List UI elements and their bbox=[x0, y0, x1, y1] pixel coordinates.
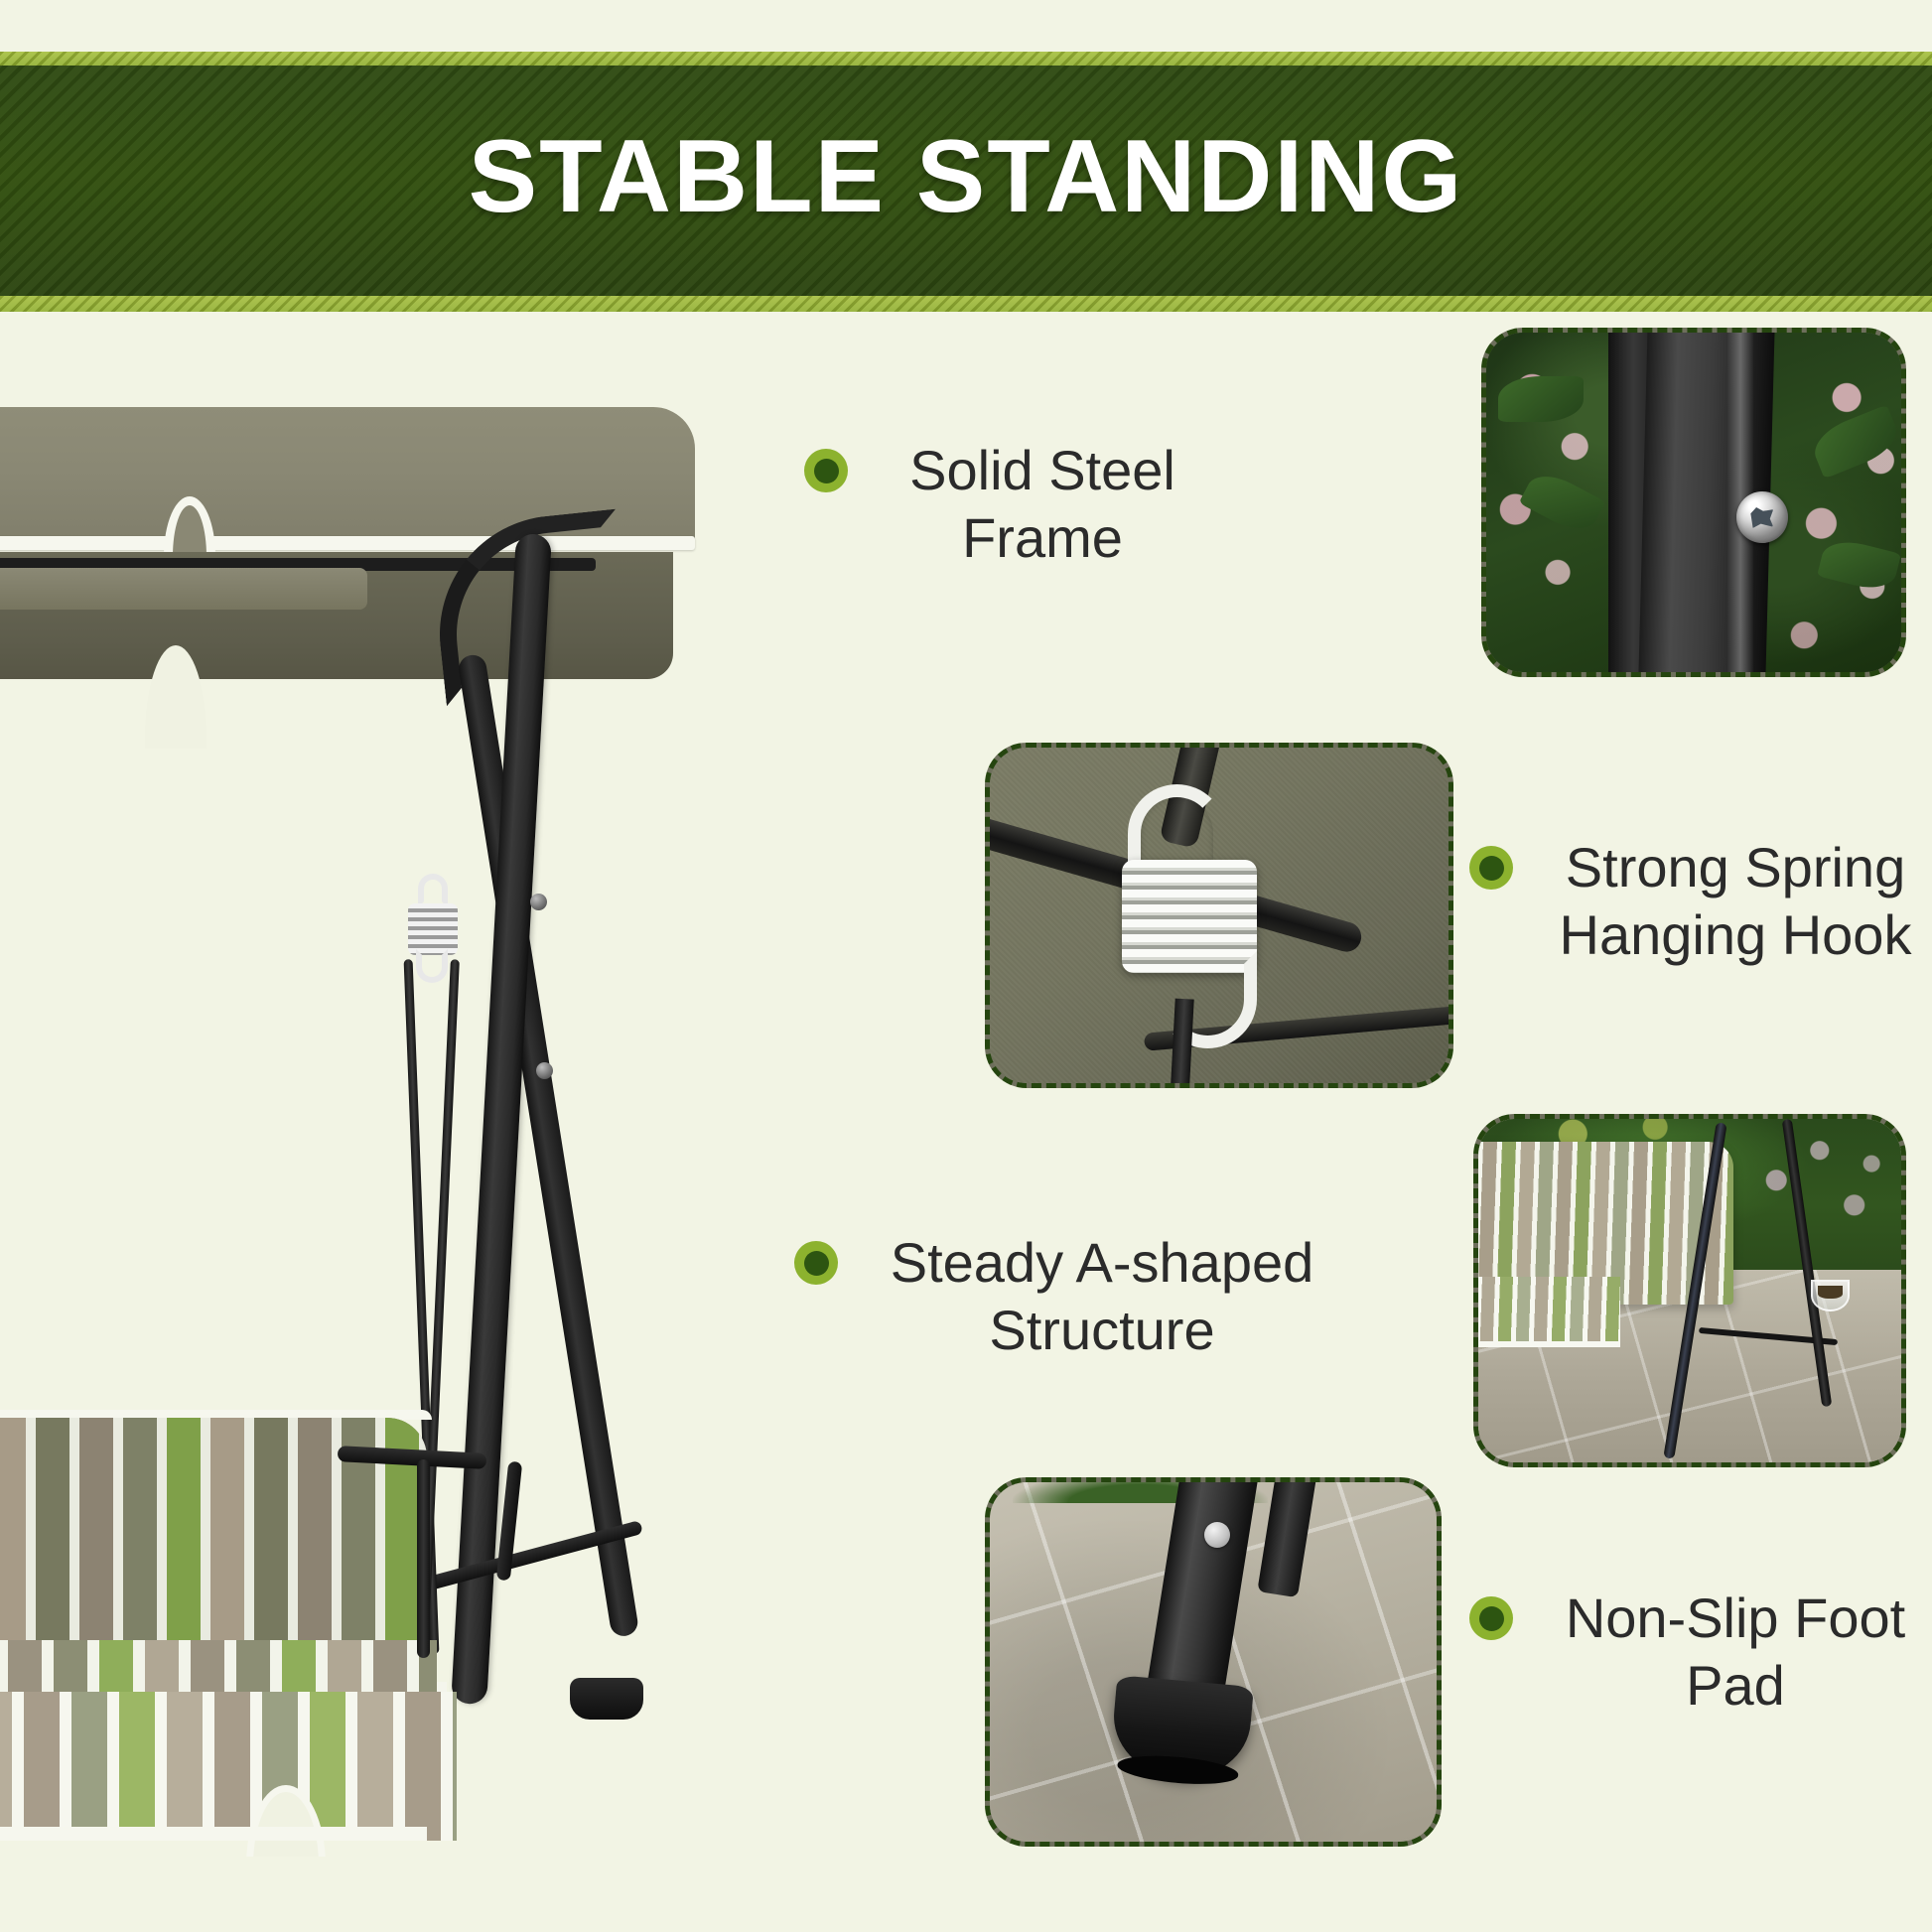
striped-seat-skirt bbox=[1473, 1277, 1620, 1347]
page-title: STABLE STANDING bbox=[469, 125, 1464, 228]
frame-bolt-upper bbox=[530, 894, 547, 910]
leg-screw-icon bbox=[1204, 1522, 1230, 1548]
feature-label-non-slip-foot-pad: Non-Slip Foot Pad bbox=[1469, 1585, 1932, 1721]
photo-swing-on-patio bbox=[1473, 1114, 1906, 1467]
feature-callout-column: Solid Steel Frame bbox=[774, 298, 1932, 1932]
cushion-skirt-bottom-piping bbox=[0, 1827, 427, 1841]
header-banner: STABLE STANDING bbox=[0, 52, 1932, 298]
bullet-icon bbox=[794, 1241, 838, 1285]
feature-4-text: Non-Slip Foot Pad bbox=[1539, 1585, 1932, 1721]
hook-upper-curve bbox=[418, 874, 448, 907]
feature-label-strong-spring-hanging-hook: Strong Spring Hanging Hook bbox=[1469, 834, 1932, 970]
product-image-swing-chair bbox=[0, 298, 854, 1932]
photo-foot-pad bbox=[985, 1477, 1442, 1847]
feature-3-text: Steady A-shaped Structure bbox=[864, 1229, 1340, 1365]
hook-lower-curve bbox=[416, 949, 448, 983]
feature-inset-photo-non-slip-foot-pad bbox=[985, 1477, 1442, 1847]
hook-coil-spring bbox=[408, 903, 458, 955]
feature-inset-photo-a-shaped-structure bbox=[1473, 1114, 1906, 1467]
feature-1-text: Solid Steel Frame bbox=[874, 437, 1211, 573]
steel-bolt-icon bbox=[1736, 491, 1788, 543]
feature-2-text: Strong Spring Hanging Hook bbox=[1539, 834, 1932, 970]
seat-armrest-post bbox=[417, 1459, 430, 1658]
canopy-front-scallop-notch bbox=[144, 477, 233, 560]
feature-label-solid-steel-frame: Solid Steel Frame bbox=[804, 437, 1211, 573]
canopy-inner-fold bbox=[0, 568, 367, 610]
canopy-rear-scallop-notch bbox=[119, 645, 238, 755]
cushion-skirt-scallop bbox=[199, 1777, 387, 1857]
leaf-1 bbox=[1498, 376, 1584, 422]
frame-bolt-lower bbox=[536, 1062, 553, 1079]
frame-front-foot-pad bbox=[570, 1678, 643, 1720]
bullet-icon bbox=[1469, 846, 1513, 890]
feature-inset-photo-spring-hook bbox=[985, 743, 1453, 1088]
feature-label-steady-a-shaped-structure: Steady A-shaped Structure bbox=[794, 1229, 1340, 1365]
photo-steel-tube-bolt bbox=[1481, 328, 1906, 677]
chrome-spring-hook-icon bbox=[1111, 784, 1280, 1053]
banner-top-accent-stripe bbox=[0, 52, 1932, 66]
bullet-icon bbox=[804, 449, 848, 492]
bullet-icon bbox=[1469, 1596, 1513, 1640]
photo-spring-hook bbox=[985, 743, 1453, 1088]
feature-inset-photo-steel-frame bbox=[1481, 328, 1906, 677]
